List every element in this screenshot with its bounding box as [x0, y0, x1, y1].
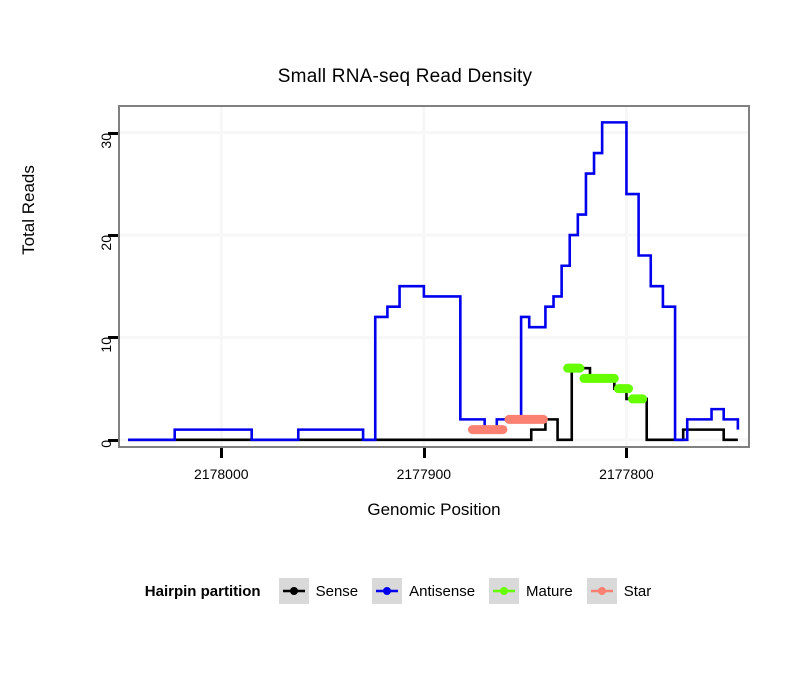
y-tick-label: 20 — [98, 235, 114, 269]
y-tick-label-wrap: 10 — [62, 329, 106, 345]
legend-key-mature-icon — [489, 578, 519, 604]
legend-symbol-icon — [492, 581, 516, 601]
x-tick-label: 2178000 — [161, 466, 281, 482]
series-line-antisense — [128, 122, 738, 439]
legend-entry-sense[interactable]: Sense — [279, 578, 359, 604]
plot-area — [120, 107, 748, 446]
legend-entry-star[interactable]: Star — [587, 578, 652, 604]
y-axis-title: Total Reads — [19, 135, 39, 285]
y-tick-label-wrap: 30 — [62, 125, 106, 141]
y-tick-label: 10 — [98, 337, 114, 371]
legend-label: Antisense — [409, 583, 475, 600]
legend-key-antisense-icon — [372, 578, 402, 604]
legend-entry-antisense[interactable]: Antisense — [372, 578, 475, 604]
y-tick-label-wrap: 20 — [62, 227, 106, 243]
x-tick-label: 2177800 — [566, 466, 686, 482]
legend-title: Hairpin partition — [145, 583, 261, 600]
y-tick-label-wrap: 0 — [62, 432, 106, 448]
data-series-layer — [128, 122, 738, 439]
plot-panel — [118, 105, 750, 448]
x-axis-title: Genomic Position — [118, 500, 750, 520]
legend-symbol-icon — [282, 581, 306, 601]
chart-title: Small RNA-seq Read Density — [0, 66, 810, 88]
chart-legend: Hairpin partition SenseAntisenseMatureSt… — [0, 578, 810, 604]
legend-symbol-icon — [375, 581, 399, 601]
legend-key-sense-icon — [279, 578, 309, 604]
x-tick-label: 2177900 — [364, 466, 484, 482]
legend-label: Mature — [526, 583, 573, 600]
y-tick-label: 30 — [98, 133, 114, 167]
x-tick-mark — [220, 448, 223, 458]
x-tick-mark — [625, 448, 628, 458]
legend-key-star-icon — [587, 578, 617, 604]
chart-figure: Small RNA-seq Read Density Total Reads 0… — [0, 0, 810, 690]
x-tick-mark — [423, 448, 426, 458]
legend-entry-list: SenseAntisenseMatureStar — [279, 578, 666, 604]
legend-label: Star — [624, 583, 652, 600]
gridlines — [120, 107, 748, 446]
legend-entry-mature[interactable]: Mature — [489, 578, 573, 604]
y-tick-label: 0 — [98, 440, 114, 474]
legend-symbol-icon — [590, 581, 614, 601]
legend-label: Sense — [316, 583, 359, 600]
